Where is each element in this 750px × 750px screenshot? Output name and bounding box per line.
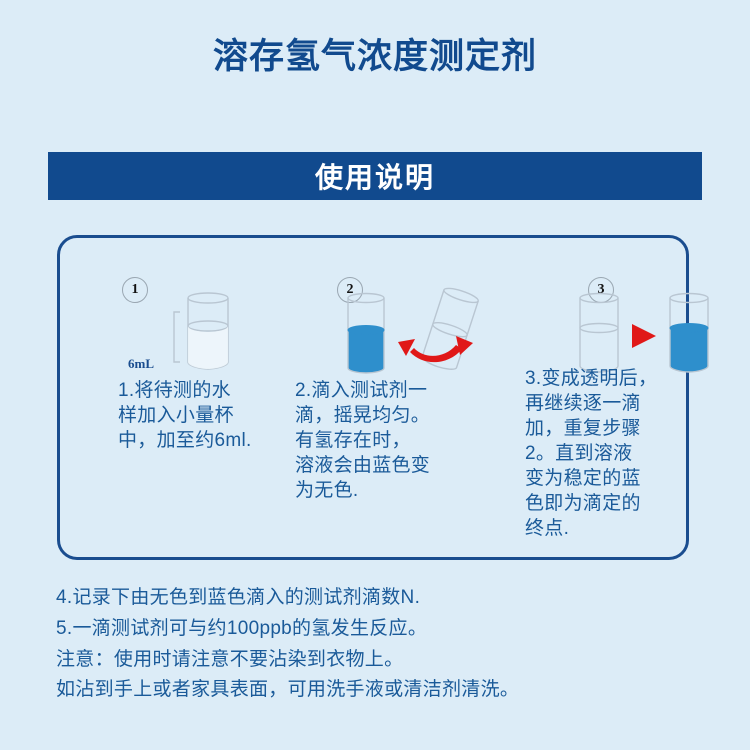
page-title: 溶存氢气浓度测定剂 bbox=[0, 36, 750, 78]
section-banner-label: 使用说明 bbox=[315, 156, 435, 196]
step-3-text: 3.变成透明后， 再继续逐一滴 加，重复步骤 2。直到溶液 变为稳定的蓝 色即为… bbox=[525, 366, 705, 542]
step-1-text: 1.将待测的水 样加入小量杯 中，加至约6ml. bbox=[118, 378, 293, 453]
step-1-illustration: 6mL bbox=[128, 286, 278, 381]
blue-result-cup-icon bbox=[670, 294, 708, 373]
volume-bracket bbox=[174, 312, 180, 362]
steps-container: 1 6mL 1.将待测的 bbox=[57, 235, 689, 560]
note-line-5: 5.一滴测试剂可与约100ppb的氢发生反应。 bbox=[56, 614, 716, 645]
blue-cup-icon bbox=[348, 294, 384, 374]
note-cleanup: 如沾到手上或者家具表面，可用洗手液或清洁剂清洗。 bbox=[56, 675, 716, 706]
notes-list: 4.记录下由无色到蓝色滴入的测试剂滴数N. 5.一滴测试剂可与约100ppb的氢… bbox=[56, 583, 716, 706]
volume-label: 6mL bbox=[128, 356, 154, 372]
shake-arrow-icon bbox=[398, 336, 473, 362]
instruction-page: 溶存氢气浓度测定剂 使用说明 1 bbox=[0, 0, 750, 750]
step-2-illustration bbox=[330, 286, 515, 386]
section-banner: 使用说明 bbox=[48, 152, 702, 200]
step-2-text: 2.滴入测试剂一 滴，摇晃均匀。 有氢存在时， 溶液会由蓝色变 为无色. bbox=[295, 378, 490, 503]
right-arrow-icon bbox=[632, 324, 656, 348]
note-caution: 注意：使用时请注意不要沾染到衣物上。 bbox=[56, 645, 716, 676]
note-line-4: 4.记录下由无色到蓝色滴入的测试剂滴数N. bbox=[56, 583, 716, 614]
cup-water-fill bbox=[188, 326, 228, 369]
clear-cup-icon bbox=[580, 294, 618, 373]
